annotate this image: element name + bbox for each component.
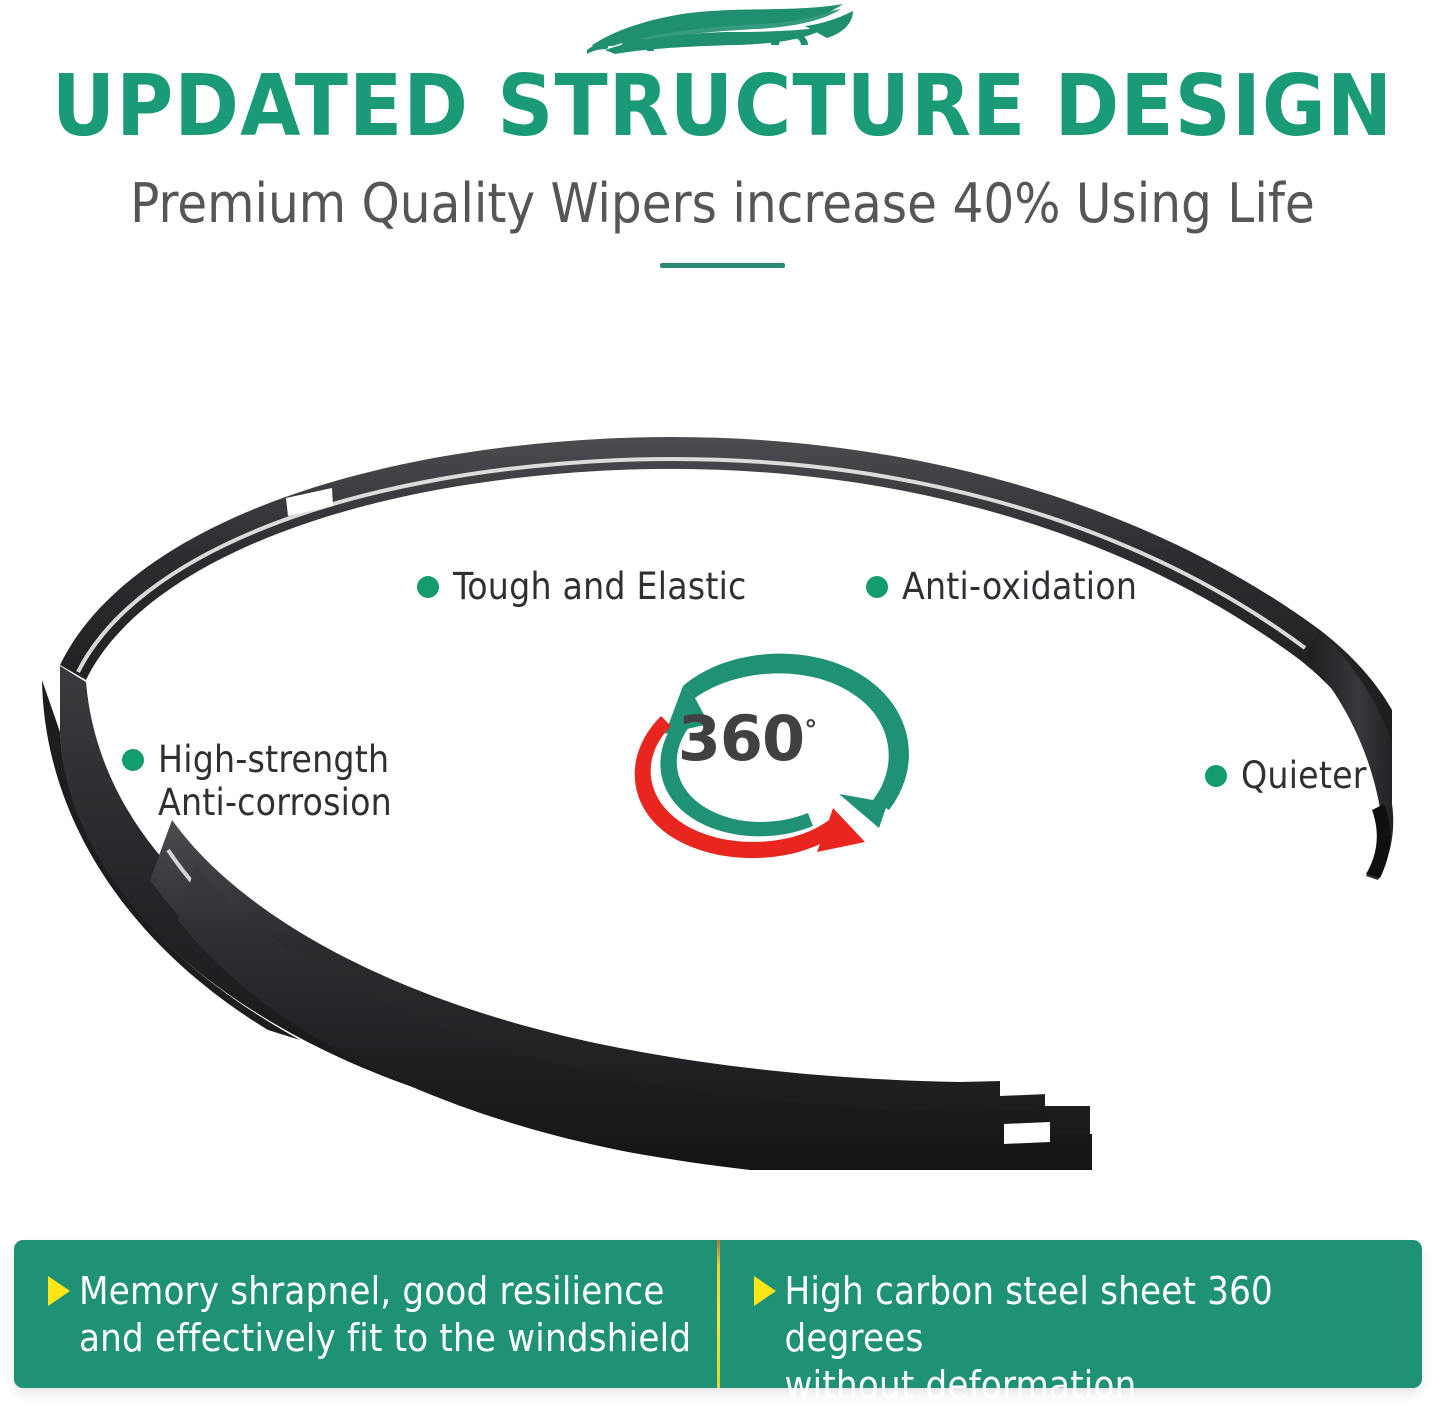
360-value: 360° [577,704,917,774]
banner-text: Memory shrapnel, good resilience and eff… [79,1268,691,1362]
banner-text: High carbon steel sheet 360 degrees with… [785,1268,1405,1409]
page-subtitle: Premium Quality Wipers increase 40% Usin… [0,172,1445,236]
bullet-dot-icon [417,576,439,598]
play-triangle-icon [48,1276,70,1306]
feature-label: High-strength Anti-corrosion [158,738,392,824]
feature-anti-oxidation: Anti-oxidation [866,565,1137,608]
bottom-feature-banner: Memory shrapnel, good resilience and eff… [14,1240,1422,1388]
feature-label: Tough and Elastic [453,565,747,608]
feature-high-strength-anti-corrosion: High-strength Anti-corrosion [122,738,392,824]
banner-item-memory-shrapnel: Memory shrapnel, good resilience and eff… [14,1240,717,1388]
play-triangle-icon [754,1276,776,1306]
product-feature-infographic: UPDATED STRUCTURE DESIGN Premium Quality… [0,0,1445,1421]
page-title: UPDATED STRUCTURE DESIGN [0,60,1445,154]
bullet-dot-icon [1205,765,1227,787]
feature-quieter: Quieter [1205,754,1367,797]
car-silhouette-logo [575,2,875,60]
banner-item-high-carbon-steel: High carbon steel sheet 360 degrees with… [720,1240,1423,1388]
feature-label: Quieter [1241,754,1367,797]
bullet-dot-icon [122,749,144,771]
title-divider [660,263,785,268]
feature-label: Anti-oxidation [902,565,1137,608]
bullet-dot-icon [866,576,888,598]
feature-tough-and-elastic: Tough and Elastic [417,565,747,608]
360-degree-badge: 360° [577,650,917,865]
